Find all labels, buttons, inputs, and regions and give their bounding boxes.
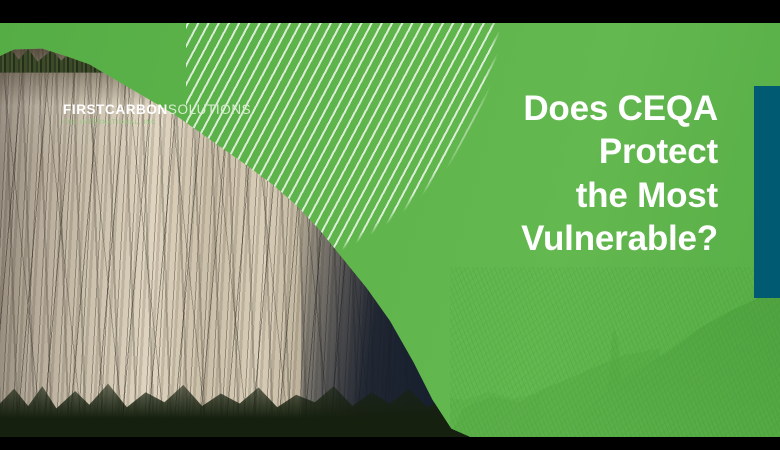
logo-tagline: FCS INTERNATIONAL, INC: [63, 120, 251, 126]
letterbox-bar-top: [0, 0, 780, 23]
logo-word-solutions: SOLUTIONS: [168, 102, 251, 117]
headline-line-2: Protect: [288, 130, 718, 173]
logo-word-firstcarbon: FIRSTCARBON: [63, 102, 168, 117]
headline-line-4: Vulnerable?: [288, 217, 718, 260]
logo-wordmark: FIRSTCARBONSOLUTIONS: [63, 103, 251, 117]
teal-accent-bar: [754, 86, 780, 298]
slide-headline: Does CEQA Protect the Most Vulnerable?: [288, 87, 718, 261]
letterbox-bar-bottom: [0, 437, 780, 450]
slide-canvas: FIRSTCARBONSOLUTIONS FCS INTERNATIONAL, …: [0, 0, 780, 450]
firstcarbon-solutions-logo: FIRSTCARBONSOLUTIONS FCS INTERNATIONAL, …: [63, 103, 251, 126]
headline-line-3: the Most: [288, 174, 718, 217]
slide-stage: FIRSTCARBONSOLUTIONS FCS INTERNATIONAL, …: [0, 23, 780, 437]
headline-line-1: Does CEQA: [288, 87, 718, 130]
